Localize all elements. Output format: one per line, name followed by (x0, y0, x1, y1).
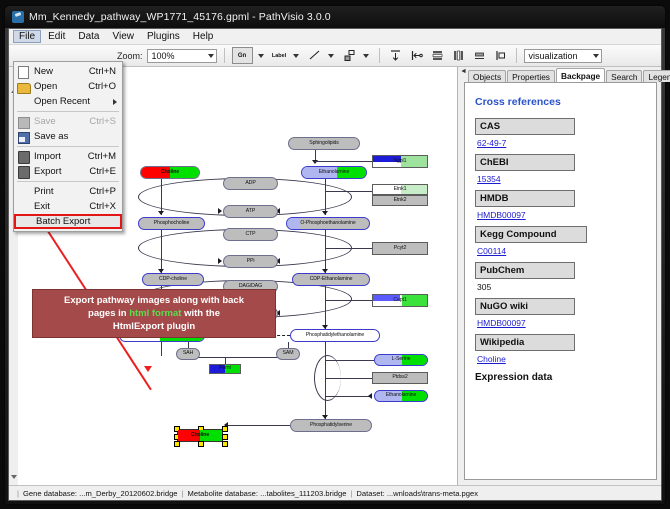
tab-search[interactable]: Search (606, 70, 642, 82)
gene-dropdown-chevron-icon[interactable] (258, 54, 264, 58)
metabolite-phosphatidylserine[interactable]: Phosphatidylserine (290, 419, 372, 432)
metabolite-sphingolipids[interactable]: Sphingolipids (288, 137, 360, 150)
callout-line-2c: with the (181, 308, 220, 319)
xref-name-kegg-compound: Kegg Compound (475, 226, 587, 243)
expression-data-heading: Expression data (475, 372, 656, 383)
metabolite-l-serine[interactable]: L-Serine (374, 354, 428, 366)
xref-value-pubchem: 305 (477, 282, 656, 292)
menu-item-batch-export[interactable]: Batch Export (14, 214, 122, 229)
app-icon (12, 11, 24, 23)
status-divider-1: | (182, 489, 184, 498)
blank-icon (16, 96, 30, 108)
xref-name-pubchem: PubChem (475, 262, 575, 279)
xref-value-chebi[interactable]: 15354 (477, 174, 656, 184)
save-icon (16, 116, 30, 128)
accel-exit: Ctrl+X (89, 201, 122, 212)
metabolite-adp[interactable]: ADP (223, 177, 278, 190)
menu-help[interactable]: Help (187, 30, 220, 43)
accel-save: Ctrl+S (89, 116, 122, 127)
callout-line-2: pages in html format with the (39, 307, 269, 320)
status-metabolite-db-value: ...tabolites_111203.bridge (260, 489, 346, 498)
selection-handle[interactable] (222, 434, 228, 440)
backpage-content: Cross references CAS 62-49-7 ChEBI 15354… (464, 82, 657, 480)
save-as-icon (16, 131, 30, 143)
xref-value-wikipedia[interactable]: Choline (477, 354, 656, 364)
xref-name-chebi: ChEBI (475, 154, 575, 171)
accel-import: Ctrl+M (88, 151, 122, 162)
align-top-icon[interactable] (387, 47, 404, 64)
annotation-callout: Export pathway images along with back pa… (32, 289, 276, 338)
selection-handle[interactable] (174, 441, 180, 447)
import-icon (16, 151, 30, 163)
metabolite-phosphatidylethanolamine[interactable]: Phosphatidylethanolamine (290, 329, 380, 342)
arrowhead-down-3 (322, 211, 328, 215)
menu-item-new[interactable]: New Ctrl+N (14, 64, 122, 79)
gene-sgpl1[interactable]: Sgpl1 (372, 155, 428, 168)
label-button-label: Label (272, 53, 286, 59)
distribute-vertical-icon[interactable] (429, 47, 446, 64)
menu-bar[interactable]: File Edit Data View Plugins Help (9, 29, 661, 45)
gene-cept1[interactable]: Cept1 (372, 294, 428, 307)
label-icon[interactable]: Label (271, 47, 288, 64)
status-gene-db-value: ...m_Derby_20120602.bridge (79, 489, 177, 498)
selection-handle[interactable] (198, 441, 204, 447)
toolbar-divider-3 (516, 48, 517, 63)
metabolite-atp[interactable]: ATP (223, 205, 278, 218)
tab-properties[interactable]: Properties (507, 70, 555, 82)
toolbar-divider-2 (379, 48, 380, 63)
menu-data[interactable]: Data (72, 30, 105, 43)
callout-highlight: html format (129, 308, 181, 319)
metabolite-choline-top[interactable]: Choline (140, 166, 200, 179)
xref-name-cas: CAS (475, 118, 575, 135)
submenu-arrow-icon (113, 99, 117, 105)
menu-separator-1 (17, 111, 119, 112)
metabolite-o-phosphoethanolamine[interactable]: O-Phosphoethanolamine (286, 217, 370, 230)
menu-item-print[interactable]: Print Ctrl+P (14, 184, 122, 199)
menu-item-save-as[interactable]: Save as (14, 129, 122, 144)
metabolite-cdp-choline[interactable]: CDP-choline (142, 273, 204, 286)
edge-sgpl1-link (315, 161, 373, 162)
gene-product-icon[interactable]: Gn (232, 47, 253, 64)
accel-print: Ctrl+P (89, 186, 122, 197)
annotation-pointer-arrowhead (144, 366, 152, 372)
menu-item-exit[interactable]: Exit Ctrl+X (14, 199, 122, 214)
open-folder-icon (16, 81, 30, 93)
gene-etnk2[interactable]: Etnk2 (372, 195, 428, 206)
chevron-down-icon (208, 54, 214, 58)
tab-legend[interactable]: Legend (643, 70, 670, 82)
status-divider-0: | (17, 489, 19, 498)
visualization-combo[interactable]: visualization (524, 49, 602, 63)
new-document-icon (16, 66, 30, 78)
xref-name-hmdb: HMDB (475, 190, 575, 207)
menu-separator-3 (17, 181, 119, 182)
metabolite-ppi[interactable]: PPi (223, 255, 278, 268)
panel-pin-icon[interactable]: ◄ (460, 69, 467, 74)
edge-ptdser-choline (228, 425, 290, 426)
metabolite-ethanolamine-top[interactable]: Ethanolamine (301, 166, 367, 179)
align-left-icon[interactable] (408, 47, 425, 64)
zoom-combo[interactable]: 100% (147, 49, 217, 63)
callout-line-3: HtmlExport plugin (39, 320, 269, 333)
gene-button-label: Gn (238, 53, 246, 59)
blank-icon (16, 186, 30, 198)
file-menu-dropdown[interactable]: New Ctrl+N Open Ctrl+O Open Recent Save … (13, 61, 123, 232)
metabolite-sam[interactable]: SAM (276, 348, 300, 360)
metabolite-phosphocholine[interactable]: Phosphocholine (138, 217, 205, 230)
status-dataset-value: ...wnloads\trans-meta.pgex (387, 489, 478, 498)
menu-view[interactable]: View (106, 30, 140, 43)
metabolite-cdp-ethanolamine[interactable]: CDP-Ethanolamine (292, 273, 370, 286)
accel-open: Ctrl+O (88, 81, 122, 92)
visualization-value: visualization (529, 51, 578, 61)
arrowhead-right-2 (218, 258, 222, 264)
tab-backpage[interactable]: Backpage (556, 68, 605, 82)
arrowhead-right-1 (218, 208, 222, 214)
zoom-value: 100% (152, 51, 175, 61)
menu-plugins[interactable]: Plugins (141, 30, 186, 43)
metabolite-ethanolamine-right[interactable]: Ethanolamine (374, 390, 428, 402)
status-divider-2: | (350, 489, 352, 498)
stack-icon[interactable] (471, 47, 488, 64)
side-panel-tabs[interactable]: ◄ Objects Properties Backpage Search Leg… (458, 67, 661, 82)
menu-item-import[interactable]: Import Ctrl+M (14, 149, 122, 164)
gene-pcyt2[interactable]: Pcyt2 (372, 242, 428, 255)
menu-separator-2 (17, 146, 119, 147)
menu-file[interactable]: File (13, 30, 41, 43)
gene-ptdss2[interactable]: Ptdss2 (372, 372, 428, 384)
tab-objects[interactable]: Objects (468, 70, 506, 82)
application-body: File Edit Data View Plugins Help Zoom: 1… (8, 28, 662, 501)
reaction-curve-serine (314, 355, 341, 401)
xref-name-wikipedia: Wikipedia (475, 334, 575, 351)
side-panel: ◄ Objects Properties Backpage Search Leg… (458, 67, 661, 485)
gene-etnk1[interactable]: Etnk1 (372, 184, 428, 195)
xref-value-cas[interactable]: 62-49-7 (477, 138, 656, 148)
label-dropdown-chevron-icon[interactable] (293, 54, 299, 58)
line-icon[interactable] (306, 47, 323, 64)
cross-references-heading: Cross references (475, 96, 656, 108)
toolbar-divider (224, 48, 225, 63)
callout-line-1: Export pathway images along with back (39, 294, 269, 307)
blank-icon (16, 201, 30, 213)
menu-item-save: Save Ctrl+S (14, 114, 122, 129)
status-dataset-label: Dataset: (356, 489, 384, 498)
arrowhead-down-2 (158, 211, 164, 215)
window-title: Mm_Kennedy_pathway_WP1771_45176.gpml - P… (29, 11, 331, 23)
metabolite-choline-selected[interactable]: Choline (177, 429, 223, 442)
line-dropdown-chevron-icon[interactable] (328, 54, 334, 58)
xref-name-nugo-wiki: NuGO wiki (475, 298, 575, 315)
status-metabolite-db-label: Metabolite database: (188, 489, 259, 498)
selection-handle[interactable] (222, 441, 228, 447)
menu-edit[interactable]: Edit (42, 30, 71, 43)
menu-item-export[interactable]: Export Ctrl+E (14, 164, 122, 179)
accel-new: Ctrl+N (89, 66, 122, 77)
group-icon[interactable] (492, 47, 509, 64)
status-bar: | Gene database: ...m_Derby_20120602.bri… (9, 485, 661, 500)
gene-pemt[interactable]: Pemt (209, 364, 241, 374)
callout-line-2a: pages in (88, 308, 129, 319)
arrowhead-left-5 (368, 393, 372, 399)
title-bar: Mm_Kennedy_pathway_WP1771_45176.gpml - P… (5, 6, 665, 28)
xref-value-nugo-wiki[interactable]: HMDB00097 (477, 318, 656, 328)
shape-dropdown-chevron-icon[interactable] (363, 54, 369, 58)
xref-value-kegg-compound[interactable]: C00114 (477, 246, 656, 256)
export-icon (16, 166, 30, 178)
menu-item-open-recent[interactable]: Open Recent (14, 94, 122, 109)
screenshot-root: Mm_Kennedy_pathway_WP1771_45176.gpml - P… (0, 0, 670, 509)
accel-export: Ctrl+E (89, 166, 122, 177)
xref-value-hmdb[interactable]: HMDB00097 (477, 210, 656, 220)
metabolite-sah[interactable]: SAH (176, 348, 200, 360)
node-fill-left (287, 218, 300, 229)
scroll-down-arrow-icon[interactable] (11, 475, 17, 479)
selection-handle[interactable] (222, 426, 228, 432)
metabolite-ctp[interactable]: CTP (223, 228, 278, 241)
status-gene-db-label: Gene database: (23, 489, 77, 498)
edge-pemt-base (188, 357, 288, 358)
shape-icon[interactable] (341, 47, 358, 64)
menu-item-open[interactable]: Open Ctrl+O (14, 79, 122, 94)
application-window: Mm_Kennedy_pathway_WP1771_45176.gpml - P… (5, 6, 665, 504)
zoom-label: Zoom: (117, 51, 143, 61)
blank-icon (18, 216, 32, 228)
edge-ptdcholine-down (161, 342, 162, 356)
visualization-chevron-down-icon (593, 54, 599, 58)
distribute-horizontal-icon[interactable] (450, 47, 467, 64)
